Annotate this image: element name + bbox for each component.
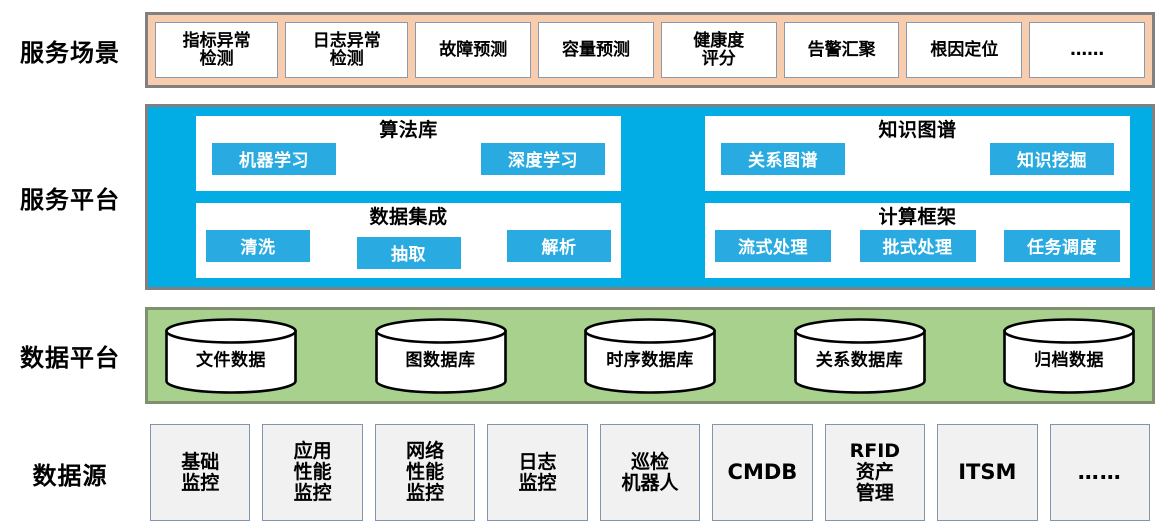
data-source-log-monitoring[interactable]: 日志 监控 <box>487 424 587 521</box>
chip-row-algorithm-library: 机器学习 深度学习 <box>196 143 621 175</box>
chip-row-data-integration: 清洗 抽取 解析 <box>196 230 621 269</box>
data-store-file-data[interactable]: 文件数据 <box>164 318 298 394</box>
card-title-data-integration: 数据集成 <box>369 207 447 228</box>
row-label-service-platform: 服务平台 <box>0 104 140 290</box>
data-platform-band: 文件数据 图数据库 时序数据库 <box>145 307 1155 404</box>
data-source-itsm[interactable]: ITSM <box>937 424 1037 521</box>
row-label-service-scenario: 服务场景 <box>0 12 140 88</box>
chip-row-computing-framework: 流式处理 批式处理 任务调度 <box>705 230 1130 262</box>
data-store-label: 关系数据库 <box>793 345 927 370</box>
chip-cleansing[interactable]: 清洗 <box>206 230 310 262</box>
data-source-application-performance-monitoring[interactable]: 应用 性能 监控 <box>262 424 362 521</box>
row-label-data-source: 数据源 <box>0 420 140 526</box>
service-platform-grid: 算法库 机器学习 深度学习 知识图谱 关系图谱 知识挖掘 数据集成 清洗 <box>196 116 1130 278</box>
platform-card-algorithm-library: 算法库 机器学习 深度学习 <box>196 116 621 191</box>
data-store-label: 图数据库 <box>374 345 508 370</box>
service-platform-band: 算法库 机器学习 深度学习 知识图谱 关系图谱 知识挖掘 数据集成 清洗 <box>145 104 1155 290</box>
data-store-archive-data[interactable]: 归档数据 <box>1002 318 1136 394</box>
scenario-item-fault-prediction[interactable]: 故障预测 <box>415 22 531 78</box>
data-source-infrastructure-monitoring[interactable]: 基础 监控 <box>150 424 250 521</box>
data-source-band: 基础 监控 应用 性能 监控 网络 性能 监控 日志 监控 巡检 机器人 CMD… <box>145 420 1155 526</box>
data-source-inspection-robot[interactable]: 巡检 机器人 <box>600 424 700 521</box>
data-source-cmdb[interactable]: CMDB <box>712 424 812 521</box>
data-source-list: 基础 监控 应用 性能 监控 网络 性能 监控 日志 监控 巡检 机器人 CMD… <box>150 424 1150 521</box>
data-source-network-performance-monitoring[interactable]: 网络 性能 监控 <box>375 424 475 521</box>
chip-task-scheduling[interactable]: 任务调度 <box>1004 230 1120 262</box>
chip-parsing[interactable]: 解析 <box>507 230 611 262</box>
card-title-knowledge-graph: 知识图谱 <box>878 120 956 141</box>
scenario-item-capacity-prediction[interactable]: 容量预测 <box>538 22 654 78</box>
scenario-item-more-ellipsis: …… <box>1029 22 1145 78</box>
row-label-data-platform: 数据平台 <box>0 307 140 404</box>
scenario-item-health-score[interactable]: 健康度 评分 <box>661 22 777 78</box>
chip-relation-graph[interactable]: 关系图谱 <box>721 143 845 175</box>
service-scenario-list: 指标异常 检测 日志异常 检测 故障预测 容量预测 健康度 评分 告警汇聚 根因… <box>155 22 1145 78</box>
platform-card-data-integration: 数据集成 清洗 抽取 解析 <box>196 203 621 278</box>
chip-row-knowledge-graph: 关系图谱 知识挖掘 <box>705 143 1130 175</box>
service-scenario-band: 指标异常 检测 日志异常 检测 故障预测 容量预测 健康度 评分 告警汇聚 根因… <box>145 12 1155 88</box>
chip-extraction[interactable]: 抽取 <box>357 237 461 269</box>
card-title-computing-framework: 计算框架 <box>878 207 956 228</box>
data-store-label: 文件数据 <box>164 345 298 370</box>
scenario-item-root-cause-location[interactable]: 根因定位 <box>906 22 1022 78</box>
chip-stream-processing[interactable]: 流式处理 <box>715 230 831 262</box>
scenario-item-metric-anomaly-detection[interactable]: 指标异常 检测 <box>155 22 278 78</box>
data-source-rfid-asset-management[interactable]: RFID 资产 管理 <box>825 424 925 521</box>
platform-card-knowledge-graph: 知识图谱 关系图谱 知识挖掘 <box>705 116 1130 191</box>
data-source-more-ellipsis: …… <box>1050 424 1150 521</box>
scenario-item-log-anomaly-detection[interactable]: 日志异常 检测 <box>285 22 408 78</box>
card-title-algorithm-library: 算法库 <box>379 120 438 141</box>
chip-machine-learning[interactable]: 机器学习 <box>212 143 336 175</box>
data-store-label: 时序数据库 <box>583 345 717 370</box>
platform-card-computing-framework: 计算框架 流式处理 批式处理 任务调度 <box>705 203 1130 278</box>
chip-batch-processing[interactable]: 批式处理 <box>860 230 976 262</box>
data-store-relational-database[interactable]: 关系数据库 <box>793 318 927 394</box>
data-store-graph-database[interactable]: 图数据库 <box>374 318 508 394</box>
data-store-time-series-database[interactable]: 时序数据库 <box>583 318 717 394</box>
chip-knowledge-mining[interactable]: 知识挖掘 <box>990 143 1114 175</box>
chip-deep-learning[interactable]: 深度学习 <box>481 143 605 175</box>
scenario-item-alarm-aggregation[interactable]: 告警汇聚 <box>784 22 900 78</box>
architecture-diagram: 服务场景 服务平台 数据平台 数据源 指标异常 检测 日志异常 检测 故障预测 … <box>0 0 1159 530</box>
data-platform-store-list: 文件数据 图数据库 时序数据库 <box>164 318 1136 393</box>
data-store-label: 归档数据 <box>1002 345 1136 370</box>
